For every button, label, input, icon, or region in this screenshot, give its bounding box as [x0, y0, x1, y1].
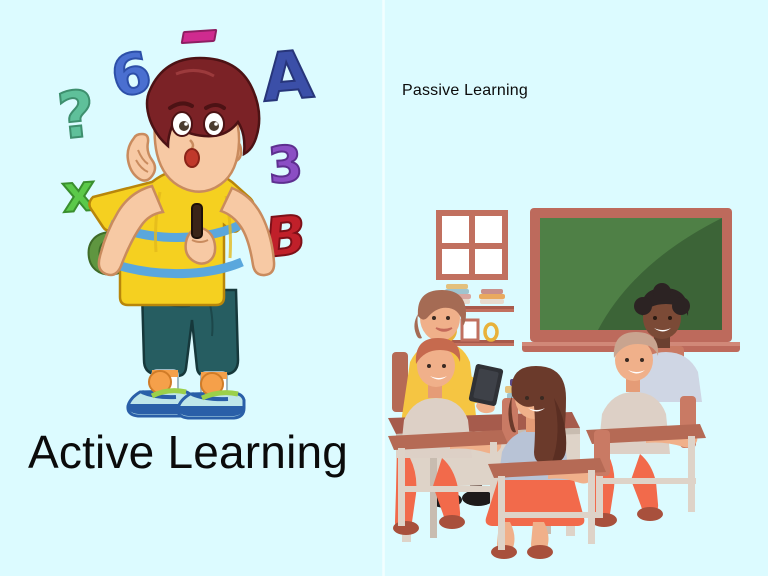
- pen-icon: [192, 204, 202, 238]
- passive-learning-panel: Passive Learning: [384, 0, 768, 576]
- panel-divider: [382, 0, 385, 576]
- active-learning-panel: ? 6 A 3 B x C: [0, 0, 384, 576]
- active-learning-caption: Active Learning: [28, 424, 348, 480]
- thinking-boy-illustration: [0, 0, 384, 576]
- comparison-graphic: ? 6 A 3 B x C: [0, 0, 768, 576]
- boy-head: [147, 58, 259, 192]
- classroom-window-icon: [436, 210, 508, 280]
- small-oval-frame-icon: [485, 324, 497, 340]
- chalkboard-icon: [522, 208, 740, 352]
- classroom-illustration: [384, 0, 768, 576]
